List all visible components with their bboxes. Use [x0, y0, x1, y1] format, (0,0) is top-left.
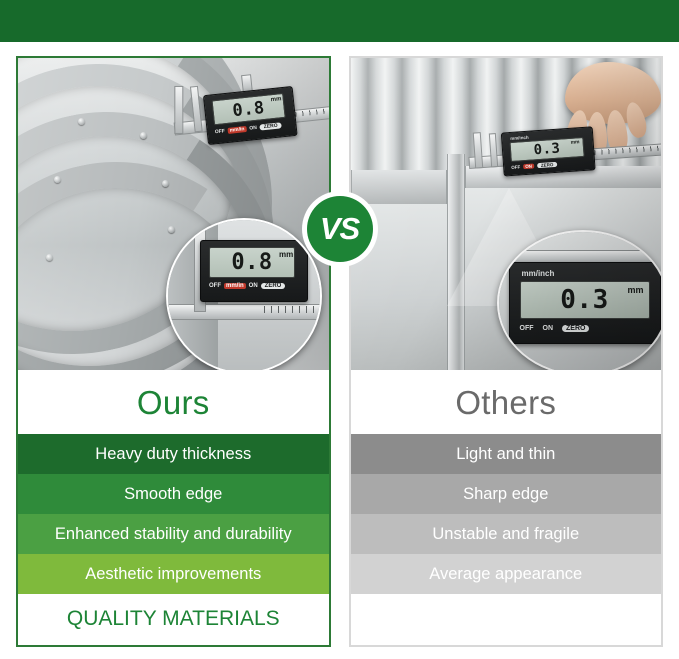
inset-caliper-body: mm/inch 0.3 mm OFF ON ZERO — [509, 262, 661, 344]
ours-feature-item: Smooth edge — [18, 474, 329, 514]
comparison-infographic: VS — [0, 0, 679, 659]
others-product-photo: mm/inch 0.3 mm OFF ON ZERO — [351, 58, 662, 370]
ours-title: Ours — [18, 370, 329, 434]
caliper-buttons: OFF ON ZERO — [511, 162, 558, 170]
panel-fold — [351, 170, 447, 204]
column-others: mm/inch 0.3 mm OFF ON ZERO — [340, 42, 679, 659]
ours-feature-list: Heavy duty thickness Smooth edge Enhance… — [18, 434, 329, 594]
caliper-btn-on: ON — [523, 163, 534, 169]
caliper-display-body: 0.8 mm OFF mm/in ON ZERO — [203, 86, 298, 145]
others-feature-item: Average appearance — [351, 554, 662, 594]
inset-caliper-scale — [264, 306, 322, 313]
inset-caliper-buttons: OFF mm/in ON ZERO — [209, 283, 285, 289]
others-feature-item: Sharp edge — [351, 474, 662, 514]
caliper-lcd-unit: mm — [271, 96, 282, 103]
bolt — [140, 132, 147, 139]
caliper-lcd-unit: mm — [570, 139, 579, 146]
inset-btn-zero: ZERO — [261, 283, 286, 289]
caliper-btn-mm-in: mm/in — [227, 126, 246, 134]
bolt — [54, 176, 61, 183]
bolt — [46, 254, 53, 261]
ours-feature-item: Aesthetic improvements — [18, 554, 329, 594]
caliper-buttons: OFF mm/in ON ZERO — [215, 122, 282, 135]
magnified-caliper-inset-others: mm/inch 0.3 mm OFF ON ZERO — [497, 230, 662, 370]
ours-feature-item: Heavy duty thickness — [18, 434, 329, 474]
others-feature-item: Light and thin — [351, 434, 662, 474]
inset-btn-mm-in: mm/in — [224, 283, 246, 289]
inset-btn-on: ON — [249, 283, 258, 289]
inset-caliper-body: 0.8 mm OFF mm/in ON ZERO — [200, 240, 308, 302]
others-panel: mm/inch 0.3 mm OFF ON ZERO — [349, 56, 664, 647]
inset-lcd-unit: mm — [279, 250, 293, 259]
inset-btn-zero: ZERO — [562, 325, 589, 332]
inset-btn-off: OFF — [520, 325, 534, 332]
caliper-btn-on: ON — [249, 125, 257, 132]
caliper-btn-zero: ZERO — [536, 162, 557, 168]
ours-feature-item: Enhanced stability and durability — [18, 514, 329, 554]
ours-panel: 0.8 mm OFF mm/in ON ZERO — [16, 56, 331, 647]
others-feature-list: Light and thin Sharp edge Unstable and f… — [351, 434, 662, 594]
caliper-btn-off: OFF — [215, 128, 226, 135]
ours-product-photo: 0.8 mm OFF mm/in ON ZERO — [18, 58, 329, 370]
others-title: Others — [351, 370, 662, 434]
caliper-jaw-upper — [174, 86, 183, 134]
inset-btn-on: ON — [543, 325, 554, 332]
bolt — [162, 180, 169, 187]
top-green-bar — [0, 0, 679, 42]
others-footer-spacer — [351, 594, 662, 645]
bolt — [78, 118, 85, 125]
digital-caliper-ours: 0.8 mm OFF mm/in ON ZERO — [163, 63, 328, 181]
comparison-columns: 0.8 mm OFF mm/in ON ZERO — [0, 42, 679, 659]
caliper-btn-zero: ZERO — [260, 122, 282, 130]
caliper-btn-off: OFF — [511, 164, 520, 170]
ours-footer-note: QUALITY MATERIALS — [18, 594, 329, 645]
others-feature-item: Unstable and fragile — [351, 514, 662, 554]
inset-lcd-unit: mm — [628, 285, 644, 295]
column-ours: 0.8 mm OFF mm/in ON ZERO — [0, 42, 340, 659]
magnified-caliper-inset-ours: 0.8 mm OFF mm/in ON ZERO — [166, 218, 322, 370]
inset-caliper-buttons: OFF ON ZERO — [520, 325, 590, 332]
digital-caliper-others: mm/inch 0.3 mm OFF ON ZERO — [466, 115, 661, 209]
caliper-display-body: mm/inch 0.3 mm OFF ON ZERO — [500, 126, 595, 176]
inset-btn-off: OFF — [209, 283, 221, 289]
vs-badge: VS — [307, 196, 373, 262]
inset-brand-label: mm/inch — [522, 269, 555, 278]
